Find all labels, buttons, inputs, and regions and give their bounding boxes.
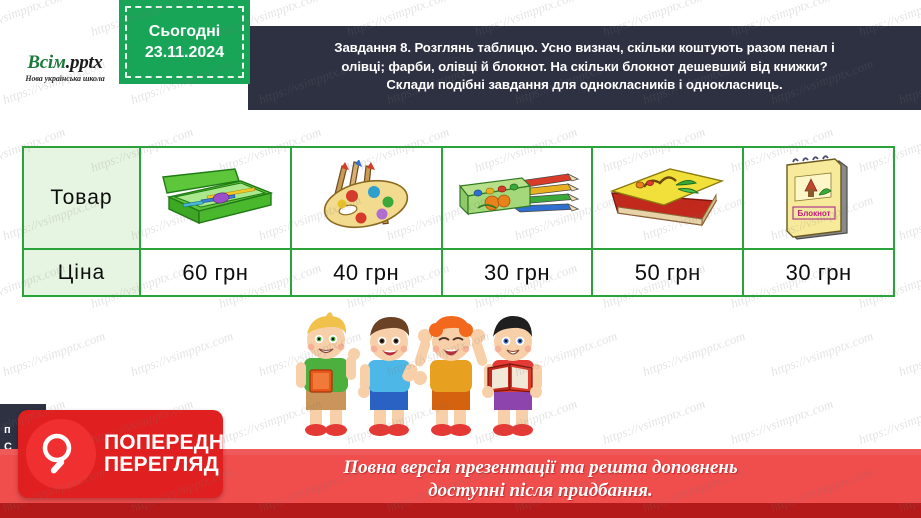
table-row-price: Ціна 60 грн 40 грн 30 грн 50 грн 30 грн [23,249,894,296]
price-cell-1: 40 грн [291,249,442,296]
task-header-line-1: Завдання 8. Розглянь таблицю. Усно визна… [334,39,834,58]
preview-badge-label: ПОПЕРЕДНІЙ ПЕРЕГЛЯД [104,432,246,477]
price-value-2: 30 [484,260,509,285]
four-children-illustration [286,312,586,462]
watermark-text: https://vsimpptx.com [769,328,876,380]
price-cell-2: 30 грн [442,249,593,296]
price-currency-1: грн [365,260,399,285]
item-cell-notepad: Блокнот [743,147,894,249]
task-header-text: Завдання 8. Розглянь таблицю. Усно визна… [334,39,834,95]
magnifier-icon [26,419,96,489]
slide-root: Завдання 8. Розглянь таблицю. Усно визна… [0,0,921,518]
price-currency-2: грн [516,260,550,285]
today-date-badge: Сьогодні 23.11.2024 [119,0,250,84]
purchase-notice-line-2: доступні після придбання. [160,479,921,502]
table-row-items: Товар [23,147,894,249]
price-value-1: 40 [333,260,358,285]
watermark-text: https://vsimpptx.com [1,328,108,380]
price-value-3: 50 [635,260,660,285]
colored-pencils-icon [443,148,592,248]
watermark-text: https://vsimpptx.com [897,192,921,244]
brand-logo-title: Всім.pptx [27,53,102,72]
child-2 [358,317,427,436]
child-1 [296,312,360,436]
price-currency-4: грн [818,260,852,285]
watermark-text: https://vsimpptx.com [729,396,836,448]
notepad-icon: Блокнот [744,148,893,248]
child-4 [482,316,542,436]
brand-logo: Всім.pptx Нова українська школа [0,26,130,110]
price-value-0: 60 [182,260,207,285]
item-cell-colored-pencils [442,147,593,249]
watermark-text: https://vsimpptx.com [601,396,708,448]
price-cell-0: 60 грн [140,249,291,296]
purchase-notice-line-1: Повна версія презентації та решта доповн… [160,456,921,479]
pencil-case-icon [141,148,290,248]
watermark-text: https://vsimpptx.com [129,328,236,380]
task-header-line-3: Склади подібні завдання для однокласникі… [334,76,834,95]
item-cell-paint-palette [291,147,442,249]
watermark-text: https://vsimpptx.com [857,396,921,448]
preview-badge[interactable]: ПОПЕРЕДНІЙ ПЕРЕГЛЯД [18,410,223,498]
row-label-items: Товар [23,147,140,249]
task-header-panel: Завдання 8. Розглянь таблицю. Усно визна… [248,26,921,110]
brand-name-second: pptx [70,52,103,73]
price-currency-3: грн [667,260,701,285]
paint-palette-icon [292,148,441,248]
item-cell-pencil-case [140,147,291,249]
preview-badge-line-1: ПОПЕРЕДНІЙ [104,432,246,454]
today-label: Сьогодні [149,21,220,42]
watermark-text: https://vsimpptx.com [897,328,921,380]
price-cell-3: 50 грн [592,249,743,296]
brand-logo-tagline: Нова українська школа [25,74,104,83]
price-cell-4: 30 грн [743,249,894,296]
preview-badge-line-2: ПЕРЕГЛЯД [104,454,246,476]
book-icon [593,148,742,248]
goods-price-table: Товар [22,146,895,297]
bottom-strip [0,503,921,518]
today-value: 23.11.2024 [145,42,224,63]
row-label-price: Ціна [23,249,140,296]
price-currency-0: грн [214,260,248,285]
svg-text:Блокнот: Блокнот [797,209,830,218]
task-header-line-2: олівці; фарби, олівці й блокнот. На скіл… [334,58,834,77]
watermark-text: https://vsimpptx.com [641,328,748,380]
brand-name-first: Всім [27,52,65,73]
item-cell-book [592,147,743,249]
price-value-4: 30 [786,260,811,285]
